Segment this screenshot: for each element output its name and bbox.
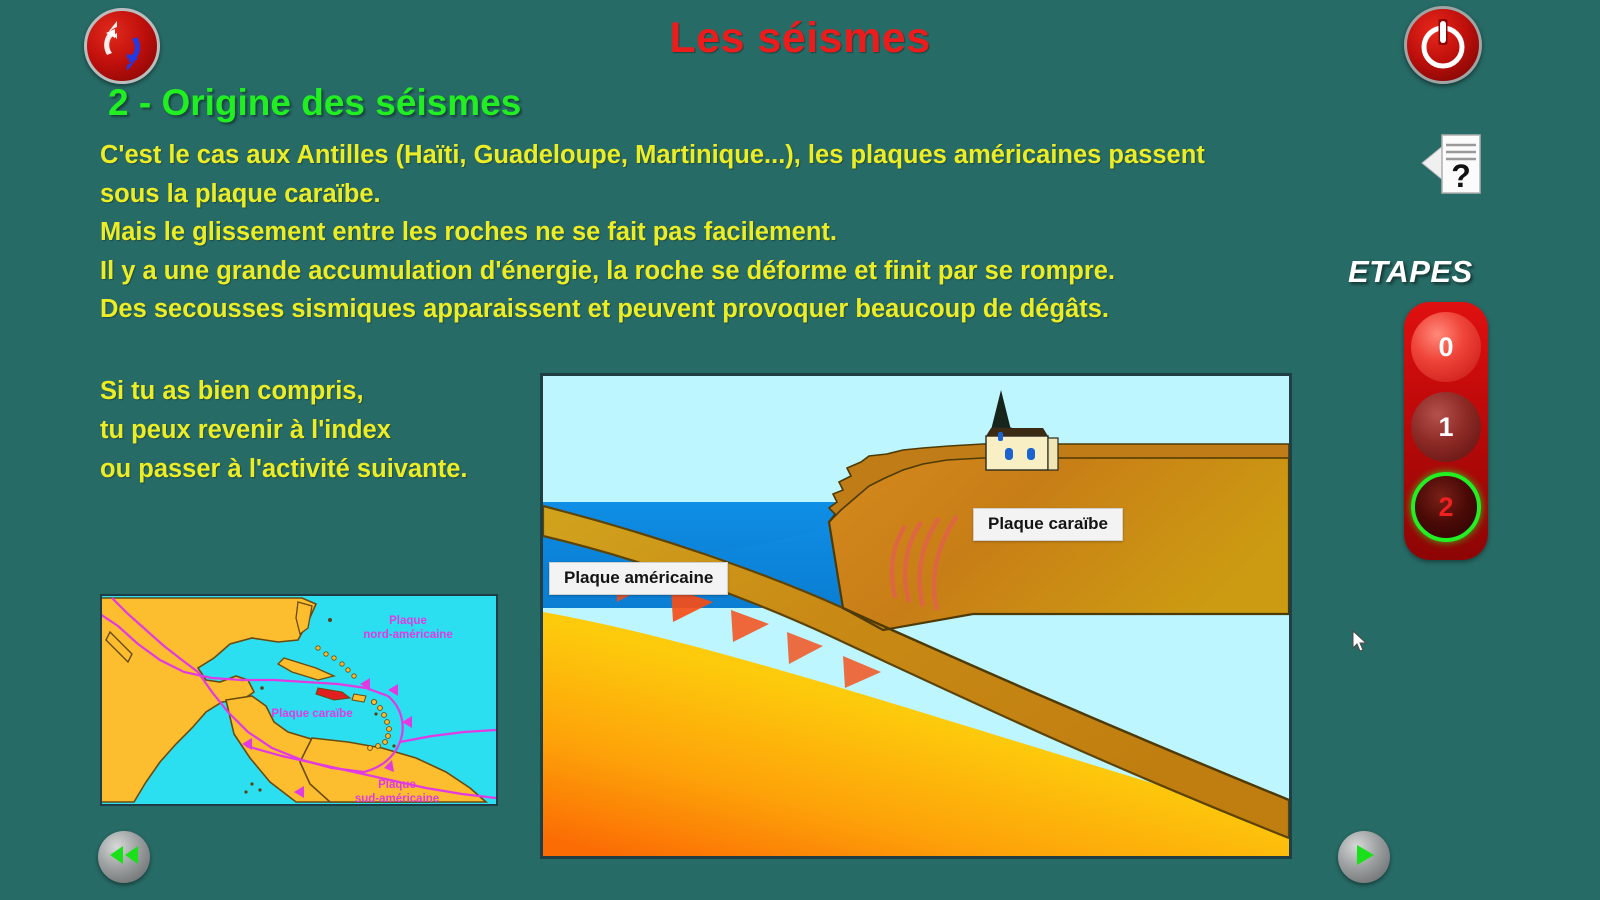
caribbean-plates-map[interactable]: Plaque nord-américaine Plaque caraïbe Pl… [100,594,498,806]
slide-canvas: Les séismes 2 - Origine des séismes C'es… [0,0,1600,900]
step-button-2[interactable]: 2 [1411,472,1481,542]
help-button[interactable]: ? [1414,125,1490,201]
prompt-line: ou passer à l'activité suivante. [100,450,530,489]
page-subtitle: 2 - Origine des séismes [108,82,521,124]
prompt-line: tu peux revenir à l'index [100,411,530,450]
step-button-1[interactable]: 1 [1411,392,1481,462]
previous-button[interactable] [98,831,150,883]
paragraph-line: Mais le glissement entre les roches ne s… [100,213,1390,252]
paragraph-line: Il y a une grande accumulation d'énergie… [100,252,1390,291]
steps-label: ETAPES [1348,254,1473,290]
svg-text:?: ? [1451,158,1471,194]
rewind-double-left-icon [107,844,141,871]
steps-panel: 0 1 2 [1404,302,1488,560]
paragraph-line: C'est le cas aux Antilles (Haïti, Guadel… [100,136,1390,175]
page-title: Les séismes [0,14,1600,63]
help-question-document-icon: ? [1414,188,1490,205]
step-label: 1 [1438,412,1453,443]
paragraph-line: sous la plaque caraïbe. [100,175,1390,214]
play-forward-icon [1351,842,1377,873]
mouse-cursor [1352,630,1368,659]
subduction-cross-section[interactable]: Plaque américaine Plaque caraïbe [540,373,1292,859]
prompt-line: Si tu as bien compris, [100,372,530,411]
step-label: 0 [1438,332,1453,363]
closing-prompt: Si tu as bien compris, tu peux revenir à… [100,372,530,489]
plate-tag-american: Plaque américaine [549,562,728,595]
plate-tag-caribbean: Plaque caraïbe [973,508,1123,541]
lesson-paragraph: C'est le cas aux Antilles (Haïti, Guadel… [100,136,1390,329]
next-button[interactable] [1338,831,1390,883]
power-off-button[interactable] [1404,6,1482,84]
step-label: 2 [1438,492,1453,523]
step-button-0[interactable]: 0 [1411,312,1481,382]
paragraph-line: Des secousses sismiques apparaissent et … [100,290,1390,329]
